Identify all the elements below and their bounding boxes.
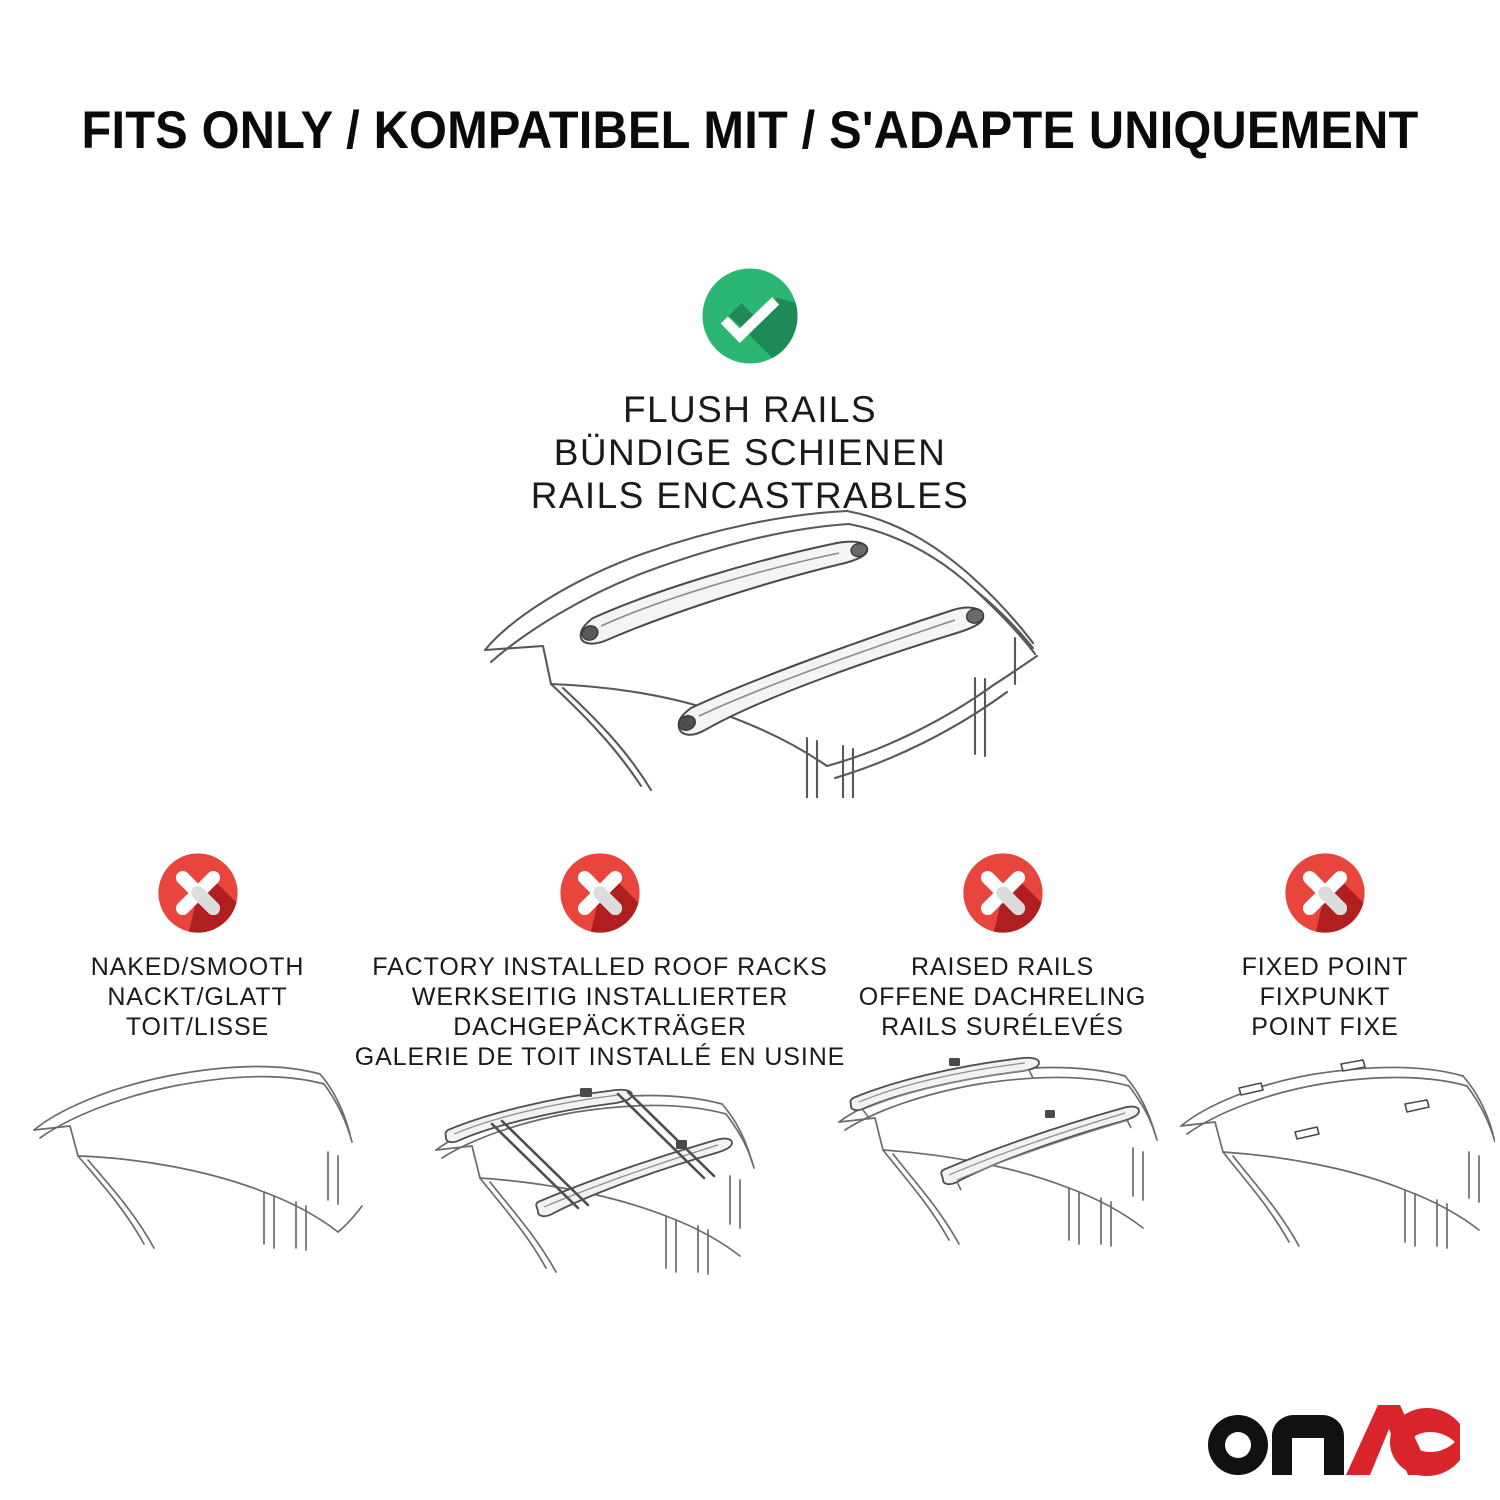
incompatible-item-factory-roof-racks: FACTORY INSTALLED ROOF RACKS WERKSEITIG … <box>370 848 830 1292</box>
incompatible-item-raised-rails: RAISED RAILS OFFENE DACHRELING RAILS SUR… <box>830 848 1175 1262</box>
x-circle-icon <box>555 848 645 938</box>
x-circle-icon <box>153 848 243 938</box>
label-de: FIXPUNKT <box>1242 982 1409 1012</box>
label-en: NAKED/SMOOTH <box>91 952 305 982</box>
compatible-label-en: FLUSH RAILS <box>0 388 1500 431</box>
check-circle-icon <box>696 262 804 370</box>
label-de-2: DACHGEPÄCKTRÄGER <box>355 1012 846 1042</box>
label-fr: POINT FIXE <box>1242 1012 1409 1042</box>
compatible-section: FLUSH RAILS BÜNDIGE SCHIENEN RAILS ENCAS… <box>0 262 1500 517</box>
header: FITS ONLY / KOMPATIBEL MIT / S'ADAPTE UN… <box>0 104 1500 157</box>
logo-letter-C <box>1390 1408 1460 1476</box>
incompatible-labels-factory-roof-racks: FACTORY INSTALLED ROOF RACKS WERKSEITIG … <box>355 952 846 1072</box>
omac-logo-mark <box>1200 1400 1460 1478</box>
incompatible-section: NAKED/SMOOTH NACKT/GLATT TOIT/LISSE <box>0 848 1500 1292</box>
logo-letter-m <box>1272 1415 1344 1475</box>
incompatible-labels-naked-smooth: NAKED/SMOOTH NACKT/GLATT TOIT/LISSE <box>91 952 305 1042</box>
x-circle-icon <box>958 848 1048 938</box>
car-roof-with-flush-rails-illustration <box>455 498 1045 798</box>
label-fr: RAILS SURÉLEVÉS <box>859 1012 1147 1042</box>
label-de: NACKT/GLATT <box>91 982 305 1012</box>
car-roof-raised-rails-illustration <box>830 1052 1175 1262</box>
incompatible-labels-raised-rails: RAISED RAILS OFFENE DACHRELING RAILS SUR… <box>859 952 1147 1042</box>
incompatible-item-naked-smooth: NAKED/SMOOTH NACKT/GLATT TOIT/LISSE <box>25 848 370 1262</box>
label-fr: GALERIE DE TOIT INSTALLÉ EN USINE <box>355 1042 846 1072</box>
omac-logo <box>1200 1400 1460 1478</box>
label-en: FACTORY INSTALLED ROOF RACKS <box>355 952 846 982</box>
compatible-label-de: BÜNDIGE SCHIENEN <box>0 431 1500 474</box>
x-circle-icon <box>1280 848 1370 938</box>
incompatible-item-fixed-point: FIXED POINT FIXPUNKT POINT FIXE <box>1175 848 1475 1262</box>
page-title: FITS ONLY / KOMPATIBEL MIT / S'ADAPTE UN… <box>60 104 1440 157</box>
car-roof-factory-roof-racks-illustration <box>370 1082 830 1292</box>
label-en: RAISED RAILS <box>859 952 1147 982</box>
car-roof-fixed-point-illustration <box>1175 1052 1475 1262</box>
label-de: OFFENE DACHRELING <box>859 982 1147 1012</box>
label-en: FIXED POINT <box>1242 952 1409 982</box>
car-roof-naked-smooth-illustration <box>25 1052 370 1262</box>
incompatible-labels-fixed-point: FIXED POINT FIXPUNKT POINT FIXE <box>1242 952 1409 1042</box>
label-fr: TOIT/LISSE <box>91 1012 305 1042</box>
logo-letter-o <box>1208 1415 1268 1475</box>
label-de-1: WERKSEITIG INSTALLIERTER <box>355 982 846 1012</box>
